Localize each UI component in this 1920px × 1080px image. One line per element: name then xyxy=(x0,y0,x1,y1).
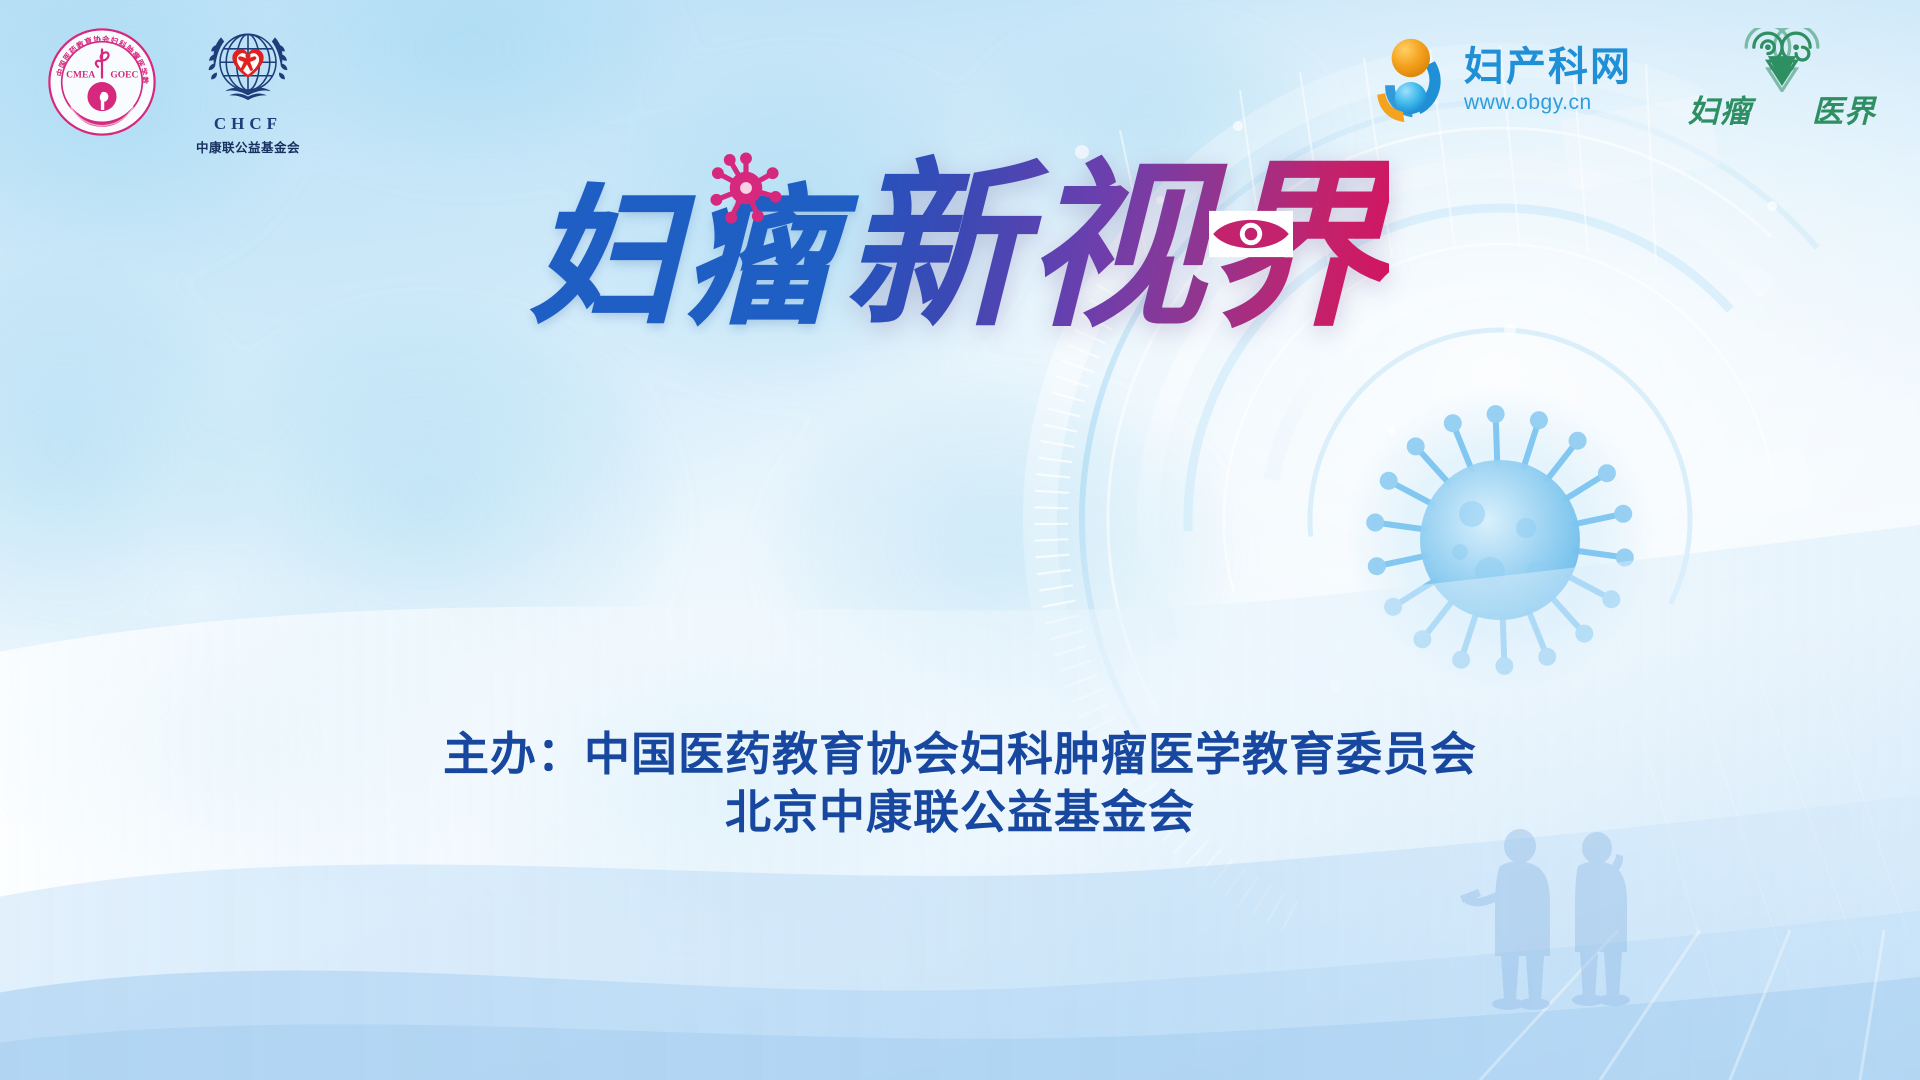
poster-title: 妇瘤 新视界 xyxy=(0,176,1920,338)
obgy-chinese-name: 妇产科网 xyxy=(1464,47,1632,87)
subtitle-line-2: 北京中康联公益基金会 xyxy=(0,784,1920,842)
obgy-url: www.obgy.cn xyxy=(1464,92,1632,113)
fuliu-label-left: 妇瘤 xyxy=(1688,86,1752,131)
fuliu-yijie-logo[interactable]: 妇瘤 医界 xyxy=(1688,28,1876,131)
obgy-logo[interactable]: 妇产科网 www.obgy.cn xyxy=(1366,34,1632,126)
cmea-acronym-left: CMEA xyxy=(66,71,95,81)
partner-logos-right: 妇产科网 www.obgy.cn 妇瘤 医界 xyxy=(1366,28,1876,131)
organizer-subtitle: 主办：中国医药教育协会妇科肿瘤医学教育委员会 北京中康联公益基金会 xyxy=(0,726,1920,842)
cmea-acronym-right: GOEC xyxy=(110,71,138,81)
cmea-goec-logo: 中国医药教育协会妇科肿瘤医学教育委员会 CMEA GOEC xyxy=(46,26,158,138)
title-line-1: 妇瘤 xyxy=(531,176,839,341)
fuliu-label-right: 医界 xyxy=(1812,86,1876,131)
title-line-2: 新视界 xyxy=(843,147,1389,348)
virus-cell-illustration xyxy=(1340,380,1660,700)
poster-canvas: 中国医药教育协会妇科肿瘤医学教育委员会 CMEA GOEC xyxy=(0,0,1920,1080)
chcf-chinese-name: 中康联公益基金会 xyxy=(192,137,304,156)
subtitle-line-1: 主办：中国医药教育协会妇科肿瘤医学教育委员会 xyxy=(0,726,1920,784)
chcf-acronym: CHCF xyxy=(192,114,304,134)
chcf-logo: CHCF 中康联公益基金会 xyxy=(192,26,304,156)
title-line-1-wrap: 妇瘤 xyxy=(531,185,839,333)
title-line-2-wrap: 新视界 xyxy=(843,158,1389,338)
organizer-logos-left: 中国医药教育协会妇科肿瘤医学教育委员会 CMEA GOEC xyxy=(46,26,304,156)
virus-germ-icon xyxy=(709,151,783,225)
eye-icon xyxy=(1209,210,1293,258)
obgy-mark-icon xyxy=(1366,34,1454,126)
uterus-icon xyxy=(1730,28,1834,92)
